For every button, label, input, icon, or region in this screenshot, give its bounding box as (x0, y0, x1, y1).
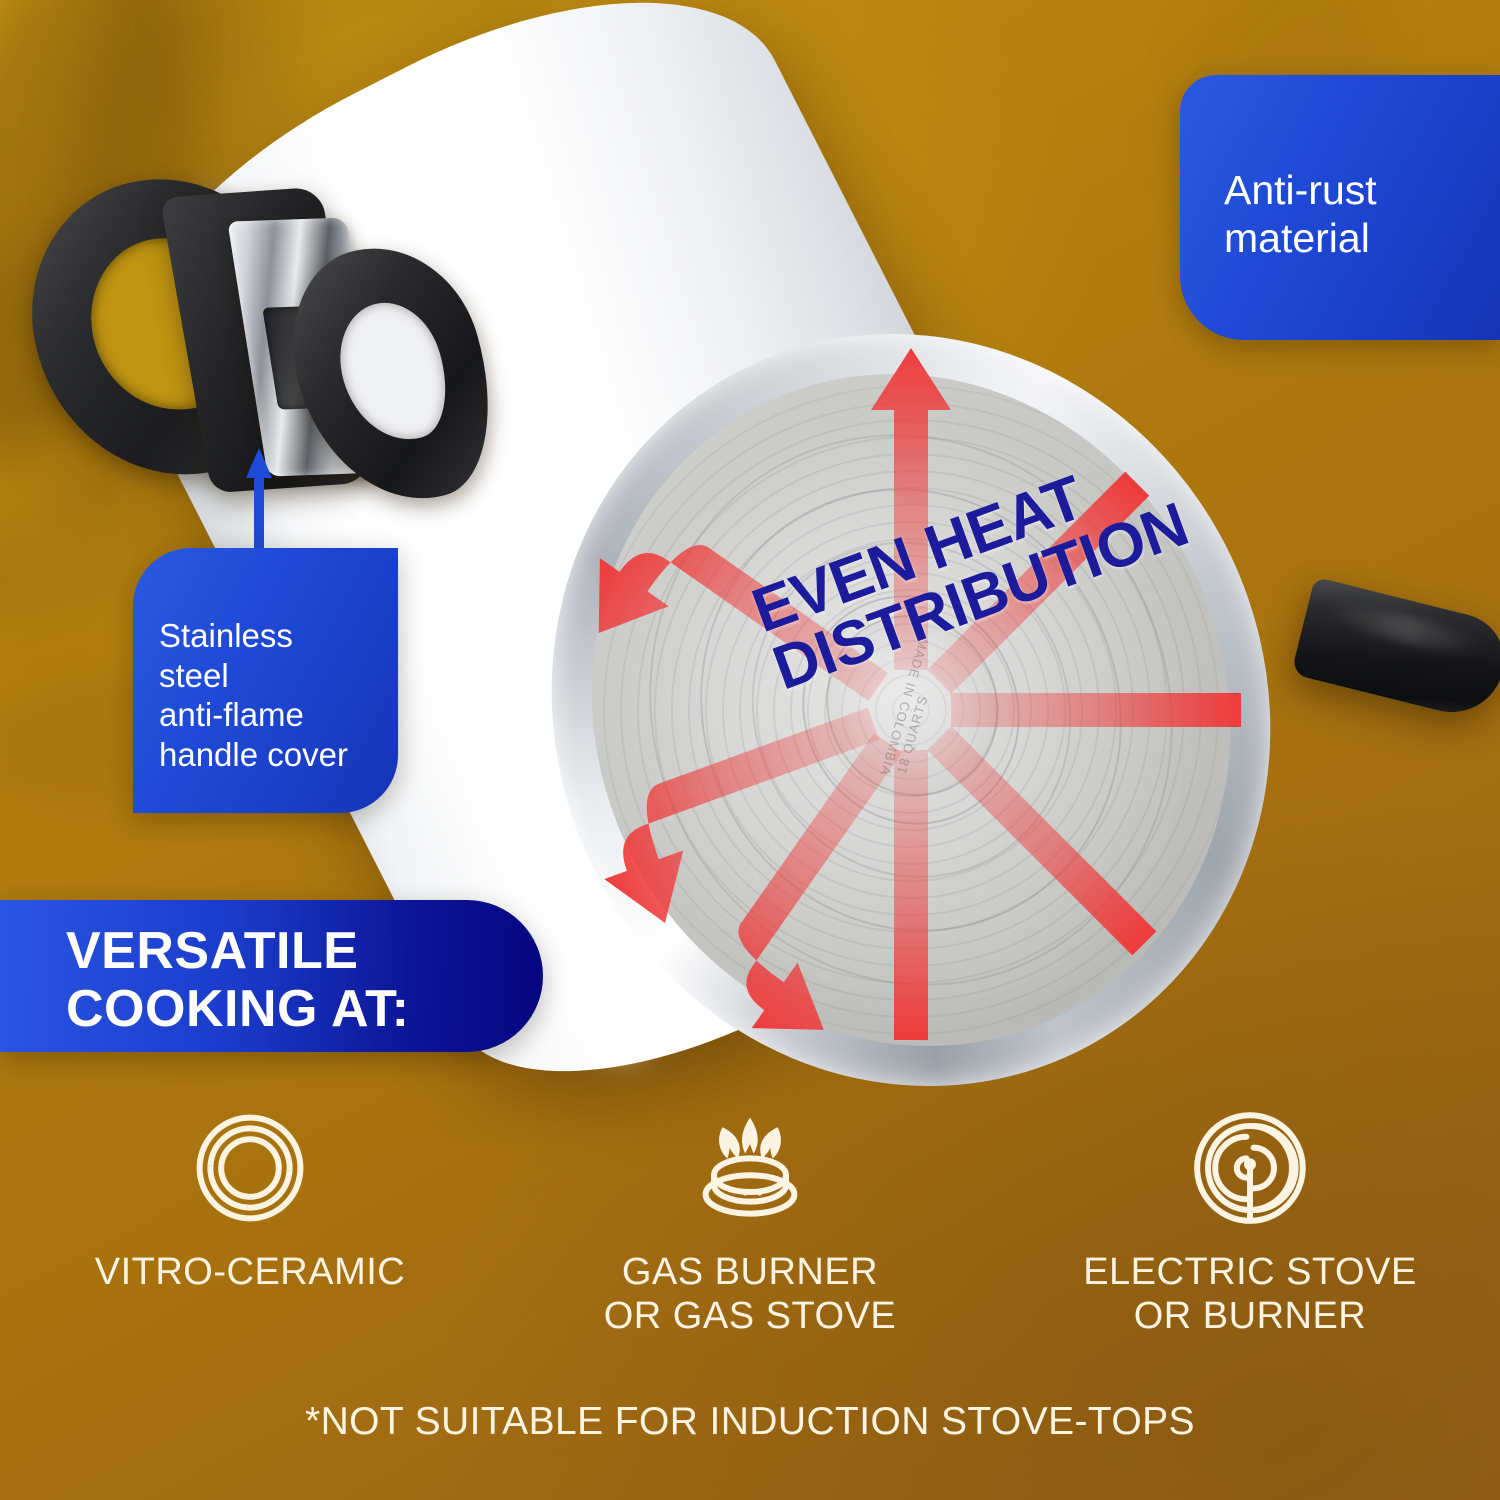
stove-option-gas-burner: GAS BURNER OR GAS STOVE (500, 1108, 1000, 1338)
stove-label-line-1: VITRO-CERAMIC (95, 1250, 406, 1294)
callout-stainless-steel-handle-cover: Stainless steel anti-flame handle cover (133, 548, 398, 813)
handle-cover-line-2: steel (159, 656, 380, 696)
induction-disclaimer: *NOT SUITABLE FOR INDUCTION STOVE-TOPS (0, 1400, 1500, 1444)
side-handle (1291, 577, 1500, 724)
anti-rust-line-1: Anti-rust (1224, 167, 1466, 215)
stove-option-vitro-ceramic: VITRO-CERAMIC (0, 1108, 500, 1338)
handle-cover-line-3: anti-flame (159, 695, 380, 735)
vitro-ceramic-icon (190, 1108, 310, 1228)
stove-label-gas-burner: GAS BURNER OR GAS STOVE (604, 1250, 896, 1338)
heat-distribution-arrows (596, 370, 1226, 1050)
stove-option-electric-stove: ELECTRIC STOVE OR BURNER (1000, 1108, 1500, 1338)
stove-label-line-2: OR GAS STOVE (604, 1294, 896, 1338)
versatile-line-1: VERSATILE (66, 922, 543, 980)
handle-cover-line-4: handle cover (159, 735, 380, 775)
heat-arrow (951, 693, 1241, 727)
handle-cover-line-1: Stainless (159, 616, 380, 656)
stove-label-line-2: OR BURNER (1083, 1294, 1417, 1338)
callout-anti-rust-material: Anti-rust material (1180, 75, 1500, 340)
anti-rust-line-2: material (1224, 215, 1466, 263)
stove-label-electric-stove: ELECTRIC STOVE OR BURNER (1083, 1250, 1417, 1338)
stove-compatibility-row: VITRO-CERAMIC GAS BURNER (0, 1108, 1500, 1338)
versatile-line-2: COOKING AT: (66, 980, 543, 1038)
heat-arrow (927, 726, 1156, 955)
heat-arrow (894, 750, 928, 1040)
stove-label-vitro-ceramic: VITRO-CERAMIC (95, 1250, 406, 1294)
heat-arrow (871, 348, 951, 670)
versatile-cooking-banner: VERSATILE COOKING AT: (0, 900, 543, 1052)
pointer-arrow-up-icon (246, 448, 272, 560)
gas-burner-icon (690, 1108, 810, 1228)
stove-label-line-1: GAS BURNER (604, 1250, 896, 1294)
electric-coil-icon (1190, 1108, 1310, 1228)
heat-arrow (580, 708, 913, 938)
heat-arrow (927, 472, 1149, 694)
stove-label-line-1: ELECTRIC STOVE (1083, 1250, 1417, 1294)
